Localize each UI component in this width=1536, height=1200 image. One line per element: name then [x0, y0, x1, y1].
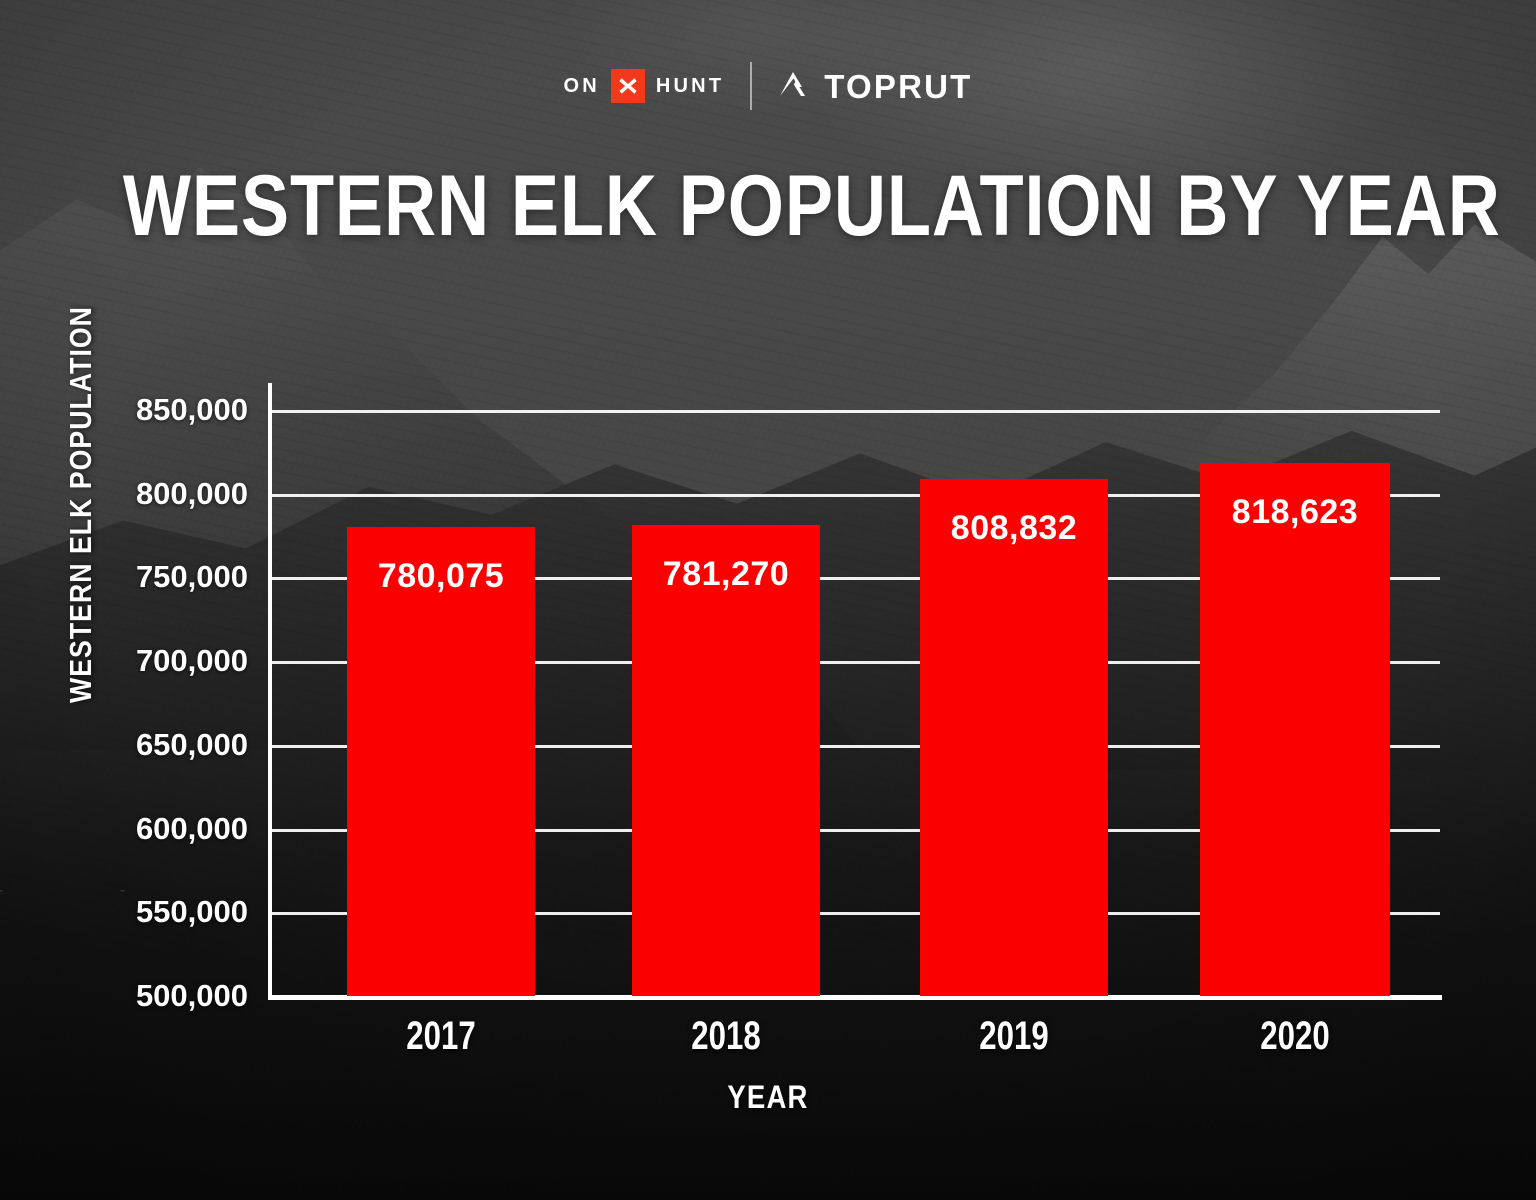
- y-tick-label: 800,000: [136, 476, 248, 512]
- bar-value-label: 818,623: [1200, 493, 1390, 532]
- bar-2017[interactable]: 780,075 2017: [347, 527, 535, 996]
- chart-title: WESTERN ELK POPULATION BY YEAR: [123, 163, 1413, 249]
- bar-value-label: 808,832: [920, 509, 1108, 548]
- bar-2020[interactable]: 818,623 2020: [1200, 463, 1390, 996]
- brand-logo-bar: ON HUNT TOPRUT: [0, 58, 1536, 114]
- y-axis-title: WESTERN ELK POPULATION: [63, 306, 99, 703]
- y-tick-label: 850,000: [136, 392, 248, 428]
- y-tick-label: 550,000: [136, 894, 248, 930]
- bar-value-label: 781,270: [632, 555, 820, 594]
- y-tick-label: 650,000: [136, 727, 248, 763]
- x-tick-label-2019: 2019: [979, 1014, 1048, 1059]
- toprut-wordmark: TOPRUT: [824, 70, 972, 103]
- onx-hunt-logo[interactable]: ON HUNT: [563, 69, 724, 103]
- mountain-icon: [778, 69, 816, 104]
- y-tick-label: 600,000: [136, 811, 248, 847]
- x-tick-label-2017: 2017: [406, 1014, 475, 1059]
- y-tick-label: 500,000: [136, 978, 248, 1014]
- onx-logo-prefix: ON: [563, 76, 599, 96]
- x-mark-icon: [611, 69, 645, 103]
- toprut-logo[interactable]: TOPRUT: [778, 69, 972, 104]
- infographic-canvas: ON HUNT TOPRUT WESTERN ELK POPULATION BY…: [0, 0, 1536, 1200]
- gridline-baseline: 500,000: [270, 996, 1440, 999]
- x-tick-label-2018: 2018: [691, 1014, 760, 1059]
- onx-logo-suffix: HUNT: [656, 76, 724, 96]
- bar-value-label: 780,075: [347, 557, 535, 596]
- x-axis-title: YEAR: [108, 1079, 1429, 1116]
- logo-divider: [750, 62, 752, 110]
- bar-2018[interactable]: 781,270 2018: [632, 525, 820, 996]
- plot-area: 850,000 800,000 750,000 700,000 650,000 …: [270, 410, 1440, 996]
- bar-series: 780,075 2017 781,270 2018 808,832 2019 8…: [270, 410, 1440, 996]
- y-tick-label: 750,000: [136, 559, 248, 595]
- y-tick-label: 700,000: [136, 643, 248, 679]
- bar-2019[interactable]: 808,832 2019: [920, 479, 1108, 996]
- x-tick-label-2020: 2020: [1260, 1014, 1329, 1059]
